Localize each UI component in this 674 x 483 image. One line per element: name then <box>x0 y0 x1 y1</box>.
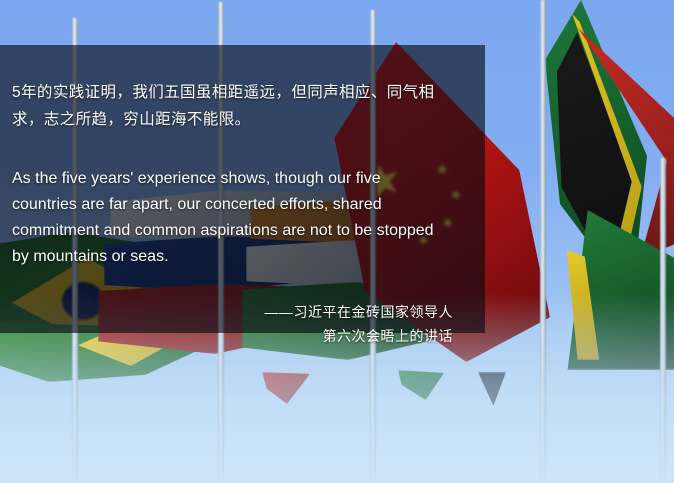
flagpole-5 <box>660 158 666 483</box>
quote-english-text: As the five years' experience shows, tho… <box>12 166 442 270</box>
attribution-line-2: 第六次会晤上的讲话 <box>12 324 453 348</box>
quote-attribution: ——习近平在金砖国家领导人 第六次会晤上的讲话 <box>12 300 459 348</box>
quote-overlay-panel: 5年的实践证明，我们五国虽相距遥远，但同声相应、同气相求，志之所趋，穷山距海不能… <box>0 45 485 333</box>
distant-green-flag <box>398 370 444 400</box>
quote-chinese-text: 5年的实践证明，我们五国虽相距遥远，但同声相应、同气相求，志之所趋，穷山距海不能… <box>12 79 459 133</box>
distant-red-flag <box>262 372 310 404</box>
distant-black-flag <box>478 372 506 406</box>
attribution-line-1: ——习近平在金砖国家领导人 <box>12 300 453 324</box>
screenshot-stage: ★ ★ ★ ★ ★ 5年的实践证明，我们五国虽相距遥远，但同声相应、同气相求，志… <box>0 0 674 483</box>
flagpole-4 <box>540 0 546 483</box>
